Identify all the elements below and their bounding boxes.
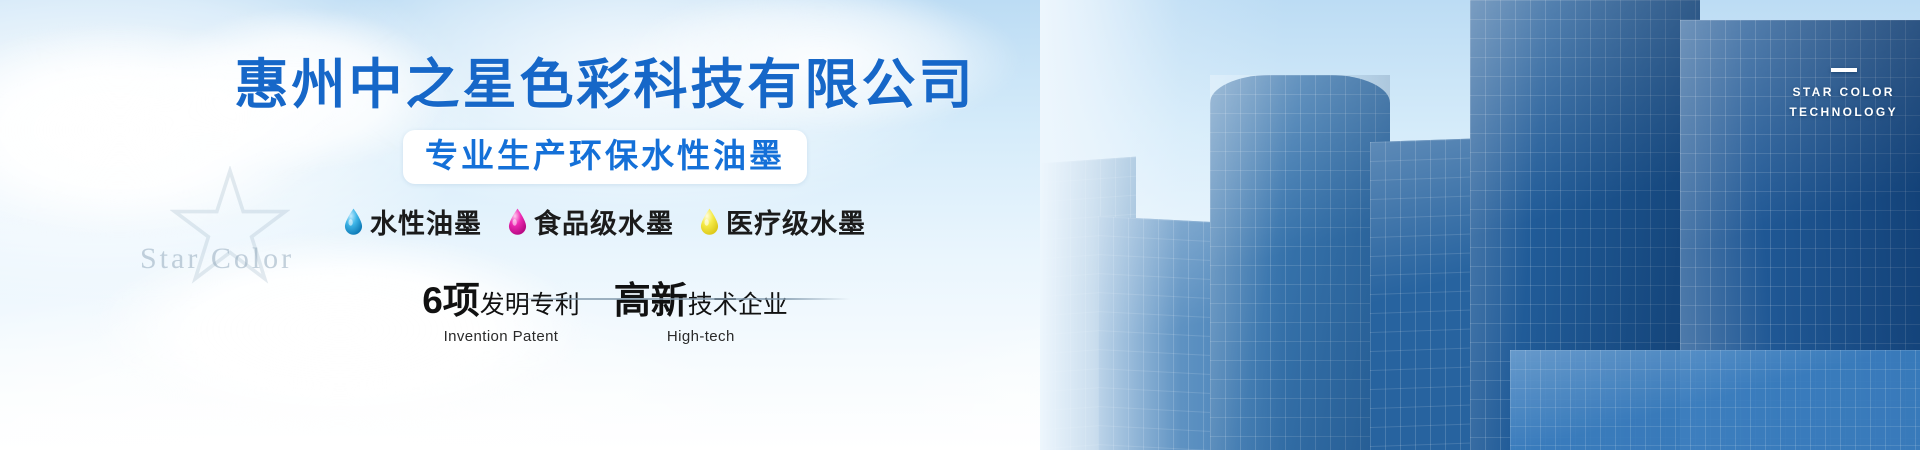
section-divider: [505, 298, 850, 300]
company-headline: 惠州中之星色彩科技有限公司: [235, 56, 976, 114]
star-color-technology-logo: STAR COLOR TECHNOLOGY: [1789, 68, 1898, 122]
promo-banner: Star Color STAR COLOR TECHNOLOGY 惠州中之星色彩…: [0, 0, 1920, 450]
feature-item: 医疗级水墨: [700, 202, 866, 241]
water-drop-icon: [700, 208, 719, 235]
feature-label: 食品级水墨: [534, 202, 674, 241]
feature-list: 水性油墨 食品级水墨: [344, 202, 866, 241]
feature-item: 水性油墨: [344, 202, 482, 241]
credential-en: High-tech: [614, 328, 788, 345]
logo-line-1: STAR COLOR: [1789, 82, 1898, 102]
credential-cn-big: 高新: [614, 280, 688, 321]
credential-cn-big: 6项: [422, 280, 480, 321]
feature-label: 水性油墨: [370, 202, 482, 241]
credential-item: 高新技术企业 High-tech: [614, 281, 788, 345]
credentials-list: 6项发明专利 Invention Patent 高新技术企业 High-tech: [422, 281, 788, 345]
credential-cn-small: 发明专利: [480, 291, 580, 319]
credential-en: Invention Patent: [422, 328, 580, 345]
subtitle-pill: 专业生产环保水性油墨: [403, 130, 807, 184]
banner-content: 惠州中之星色彩科技有限公司 专业生产环保水性油墨 水性油墨: [0, 0, 1210, 450]
credential-cn: 高新技术企业: [614, 281, 788, 322]
logo-line-2: TECHNOLOGY: [1789, 102, 1898, 122]
feature-item: 食品级水墨: [508, 202, 674, 241]
logo-mark-icon: [1831, 68, 1857, 72]
credential-cn: 6项发明专利: [422, 281, 580, 322]
credential-cn-small: 技术企业: [688, 291, 788, 319]
feature-label: 医疗级水墨: [726, 202, 866, 241]
water-drop-icon: [508, 208, 527, 235]
subtitle-text: 专业生产环保水性油墨: [425, 137, 785, 175]
water-drop-icon: [344, 208, 363, 235]
credential-item: 6项发明专利 Invention Patent: [422, 281, 580, 345]
